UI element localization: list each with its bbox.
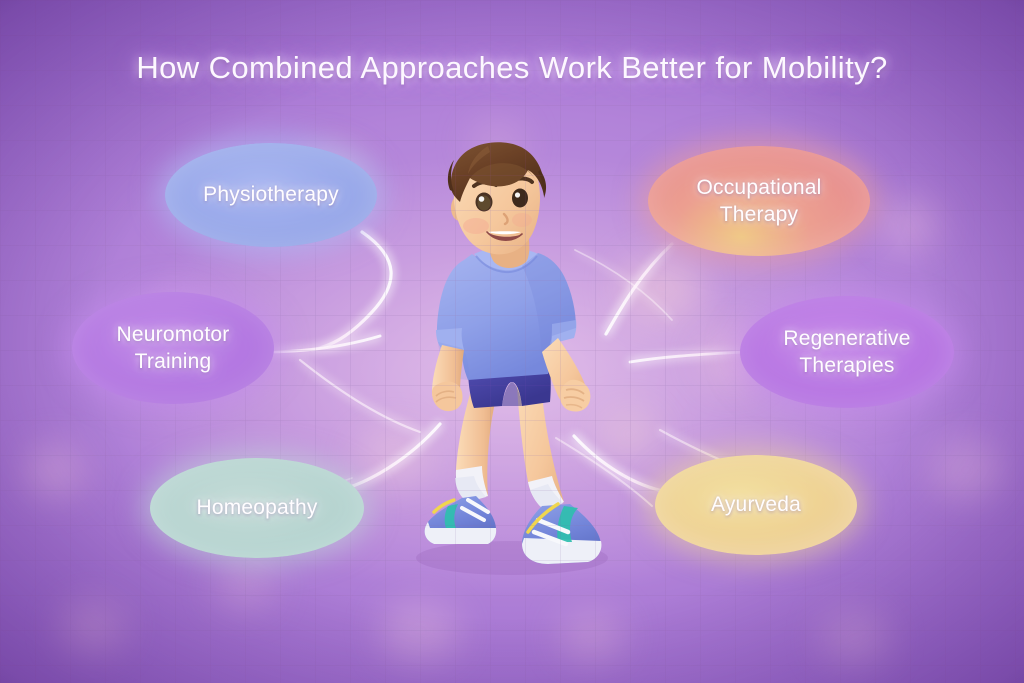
- bokeh-blob: [25, 445, 85, 497]
- node-regenerative-therapies[interactable]: Regenerative Therapies: [740, 296, 954, 408]
- node-label: Physiotherapy: [203, 181, 339, 208]
- node-label: Regenerative Therapies: [756, 325, 938, 380]
- node-label: Occupational Therapy: [664, 174, 854, 229]
- bokeh-blob: [820, 610, 890, 666]
- node-physiotherapy[interactable]: Physiotherapy: [165, 143, 377, 247]
- node-ayurveda[interactable]: Ayurveda: [655, 455, 857, 555]
- node-label: Neuromotor Training: [88, 321, 258, 376]
- connector-physiotherapy: [312, 232, 391, 350]
- node-neuromotor-training[interactable]: Neuromotor Training: [72, 292, 274, 404]
- bokeh-blob: [215, 560, 275, 610]
- connector-regenerative: [630, 352, 744, 362]
- node-homeopathy[interactable]: Homeopathy: [150, 458, 364, 558]
- bokeh-blob: [380, 600, 460, 662]
- child-back-shoe: [425, 496, 497, 544]
- bokeh-blob: [560, 610, 624, 662]
- node-label: Homeopathy: [196, 494, 317, 521]
- walking-child-illustration: [392, 140, 632, 580]
- child-front-shoe: [522, 504, 601, 564]
- child-eye-right: [512, 189, 528, 208]
- child-back-arm: [432, 345, 464, 411]
- bokeh-blob: [620, 255, 704, 321]
- connector-neuromotor: [262, 336, 380, 352]
- page-title: How Combined Approaches Work Better for …: [0, 50, 1024, 86]
- node-occupational-therapy[interactable]: Occupational Therapy: [648, 146, 870, 256]
- bokeh-blob: [880, 200, 938, 250]
- child-head: [448, 142, 546, 254]
- node-label: Ayurveda: [711, 491, 801, 518]
- bokeh-blob: [60, 600, 126, 654]
- infographic-canvas: How Combined Approaches Work Better for …: [0, 0, 1024, 683]
- bokeh-blob: [930, 440, 1002, 500]
